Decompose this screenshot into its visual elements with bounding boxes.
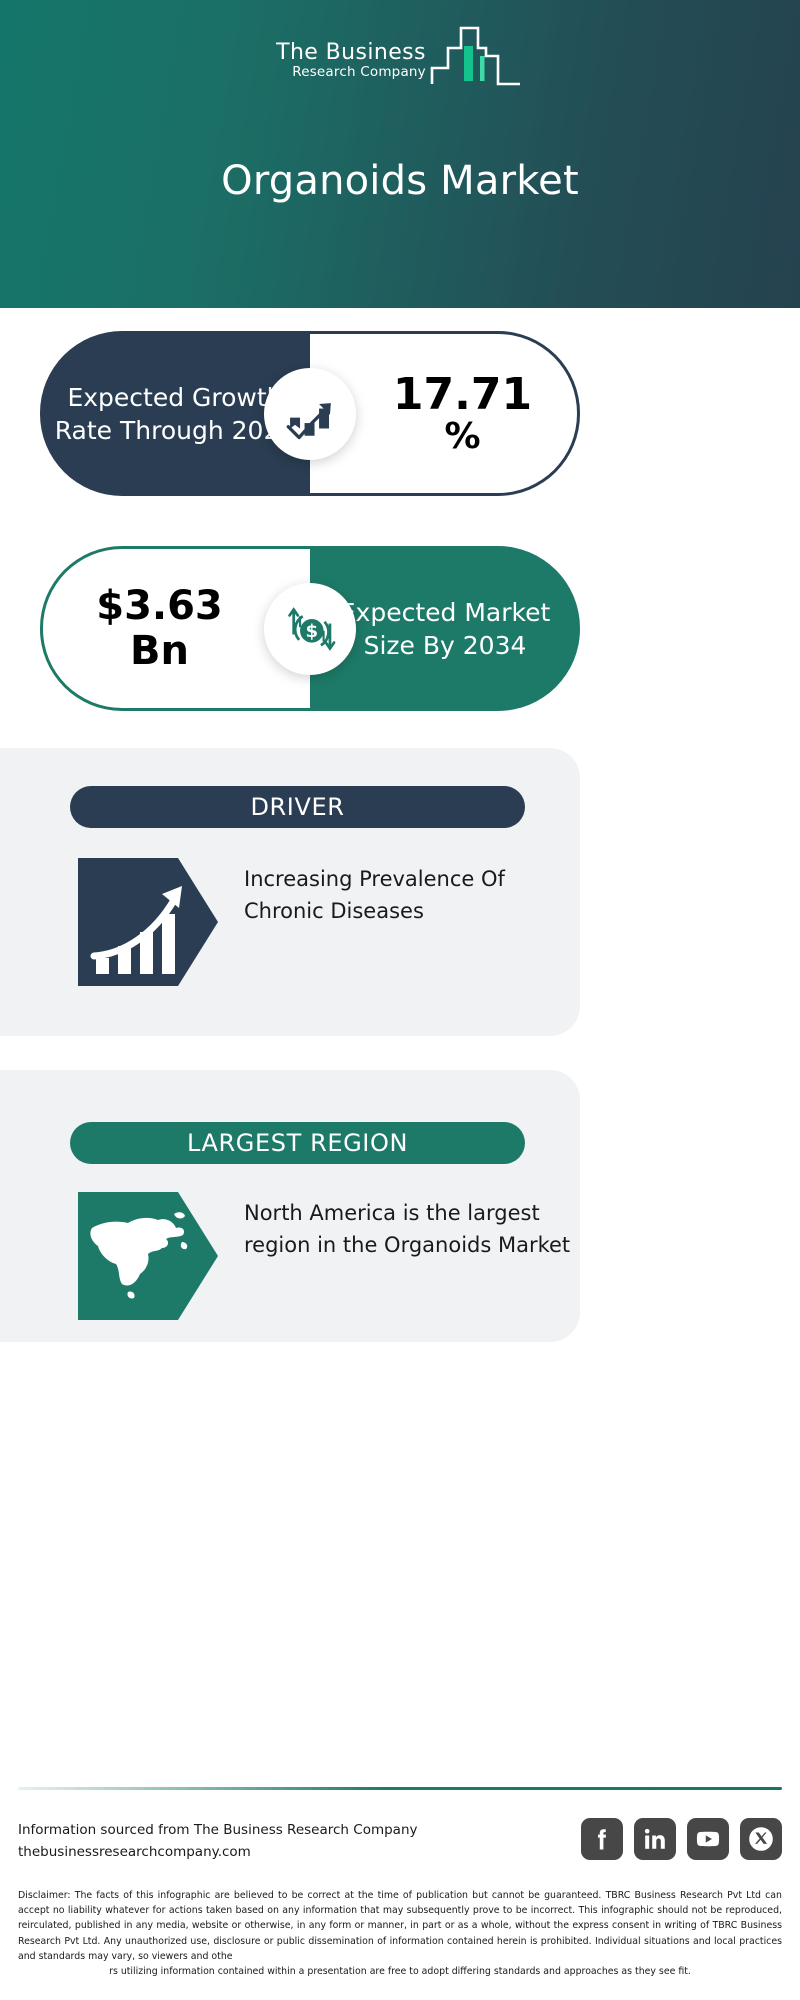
driver-content-row: Increasing Prevalence Of Chronic Disease… — [78, 858, 574, 986]
header-banner: The Business Research Company Organoids … — [0, 0, 800, 308]
footer-source-line-1: Information sourced from The Business Re… — [18, 1820, 418, 1842]
x-twitter-icon[interactable] — [740, 1818, 782, 1860]
disclaimer-text: Disclaimer: The facts of this infographi… — [18, 1888, 782, 1979]
svg-text:$: $ — [306, 621, 319, 642]
north-america-map-icon — [78, 1192, 218, 1320]
stat-value: $3.63 Bn — [96, 584, 257, 674]
social-links — [581, 1818, 782, 1860]
panel-driver: DRIVER Increasing Prevalence Of Chronic … — [0, 748, 580, 1036]
page-title: Organoids Market — [0, 158, 800, 204]
logo-line-1: The Business — [276, 41, 426, 64]
driver-pill-label: DRIVER — [70, 786, 525, 828]
stat-value-unit: % — [393, 418, 532, 456]
dollar-cycle-icon: $ — [264, 583, 356, 675]
infographic-page: The Business Research Company Organoids … — [0, 0, 800, 2000]
panel-largest-region: LARGEST REGION North America is the larg… — [0, 1070, 580, 1342]
footer-divider — [18, 1787, 782, 1790]
stat-value-unit: Bn — [96, 629, 223, 674]
largest-region-pill-label: LARGEST REGION — [70, 1122, 525, 1164]
footer-source: Information sourced from The Business Re… — [18, 1820, 418, 1864]
stat-card-expected-market-size: $3.63 Bn Expected Market Size By 2034 $ — [40, 546, 580, 711]
stat-value-number: $3.63 — [96, 583, 223, 629]
stat-card-expected-growth-rate: Expected Growth Rate Through 2029 17.71 … — [40, 331, 580, 496]
stat-value: 17.71 % — [355, 372, 532, 456]
footer-source-line-2[interactable]: thebusinessresearchcompany.com — [18, 1842, 418, 1864]
growth-chart-icon — [264, 368, 356, 460]
largest-region-content-row: North America is the largest region in t… — [78, 1192, 574, 1320]
disclaimer-main: Disclaimer: The facts of this infographi… — [18, 1890, 782, 1962]
linkedin-icon[interactable] — [634, 1818, 676, 1860]
youtube-icon[interactable] — [687, 1818, 729, 1860]
logo-text: The Business Research Company — [276, 41, 426, 88]
disclaimer-last-line: rs utilizing information contained withi… — [18, 1964, 782, 1979]
growth-bars-arrow-icon — [78, 858, 218, 986]
largest-region-text: North America is the largest region in t… — [244, 1192, 574, 1262]
stat-value-number: 17.71 — [393, 369, 532, 420]
company-logo: The Business Research Company — [0, 22, 800, 88]
driver-text: Increasing Prevalence Of Chronic Disease… — [244, 858, 574, 928]
logo-line-2: Research Company — [276, 64, 426, 82]
facebook-icon[interactable] — [581, 1818, 623, 1860]
bar-chart-logo-icon — [428, 22, 524, 88]
